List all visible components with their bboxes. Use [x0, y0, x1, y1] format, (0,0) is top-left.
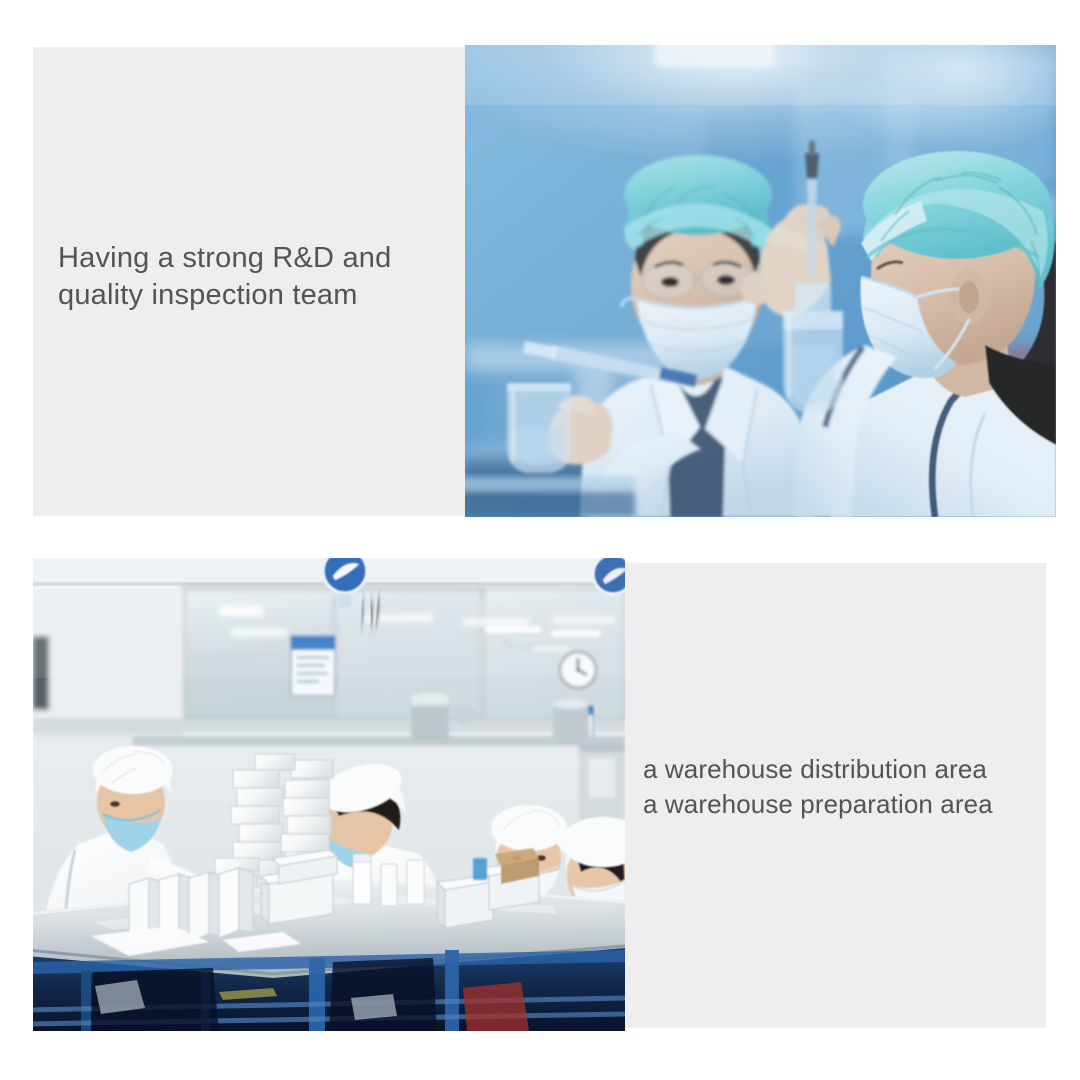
page-root: Having a strong R&D and quality inspecti… [0, 0, 1080, 1080]
warehouse-packing-photo [33, 558, 625, 1031]
warehouse-caption-text: a warehouse distribution area a warehous… [643, 752, 1048, 822]
lab-technicians-photo [465, 45, 1056, 517]
warehouse-packing-illustration [33, 558, 625, 1031]
rnd-caption-text: Having a strong R&D and quality inspecti… [58, 240, 448, 314]
lab-technicians-illustration [465, 45, 1056, 517]
